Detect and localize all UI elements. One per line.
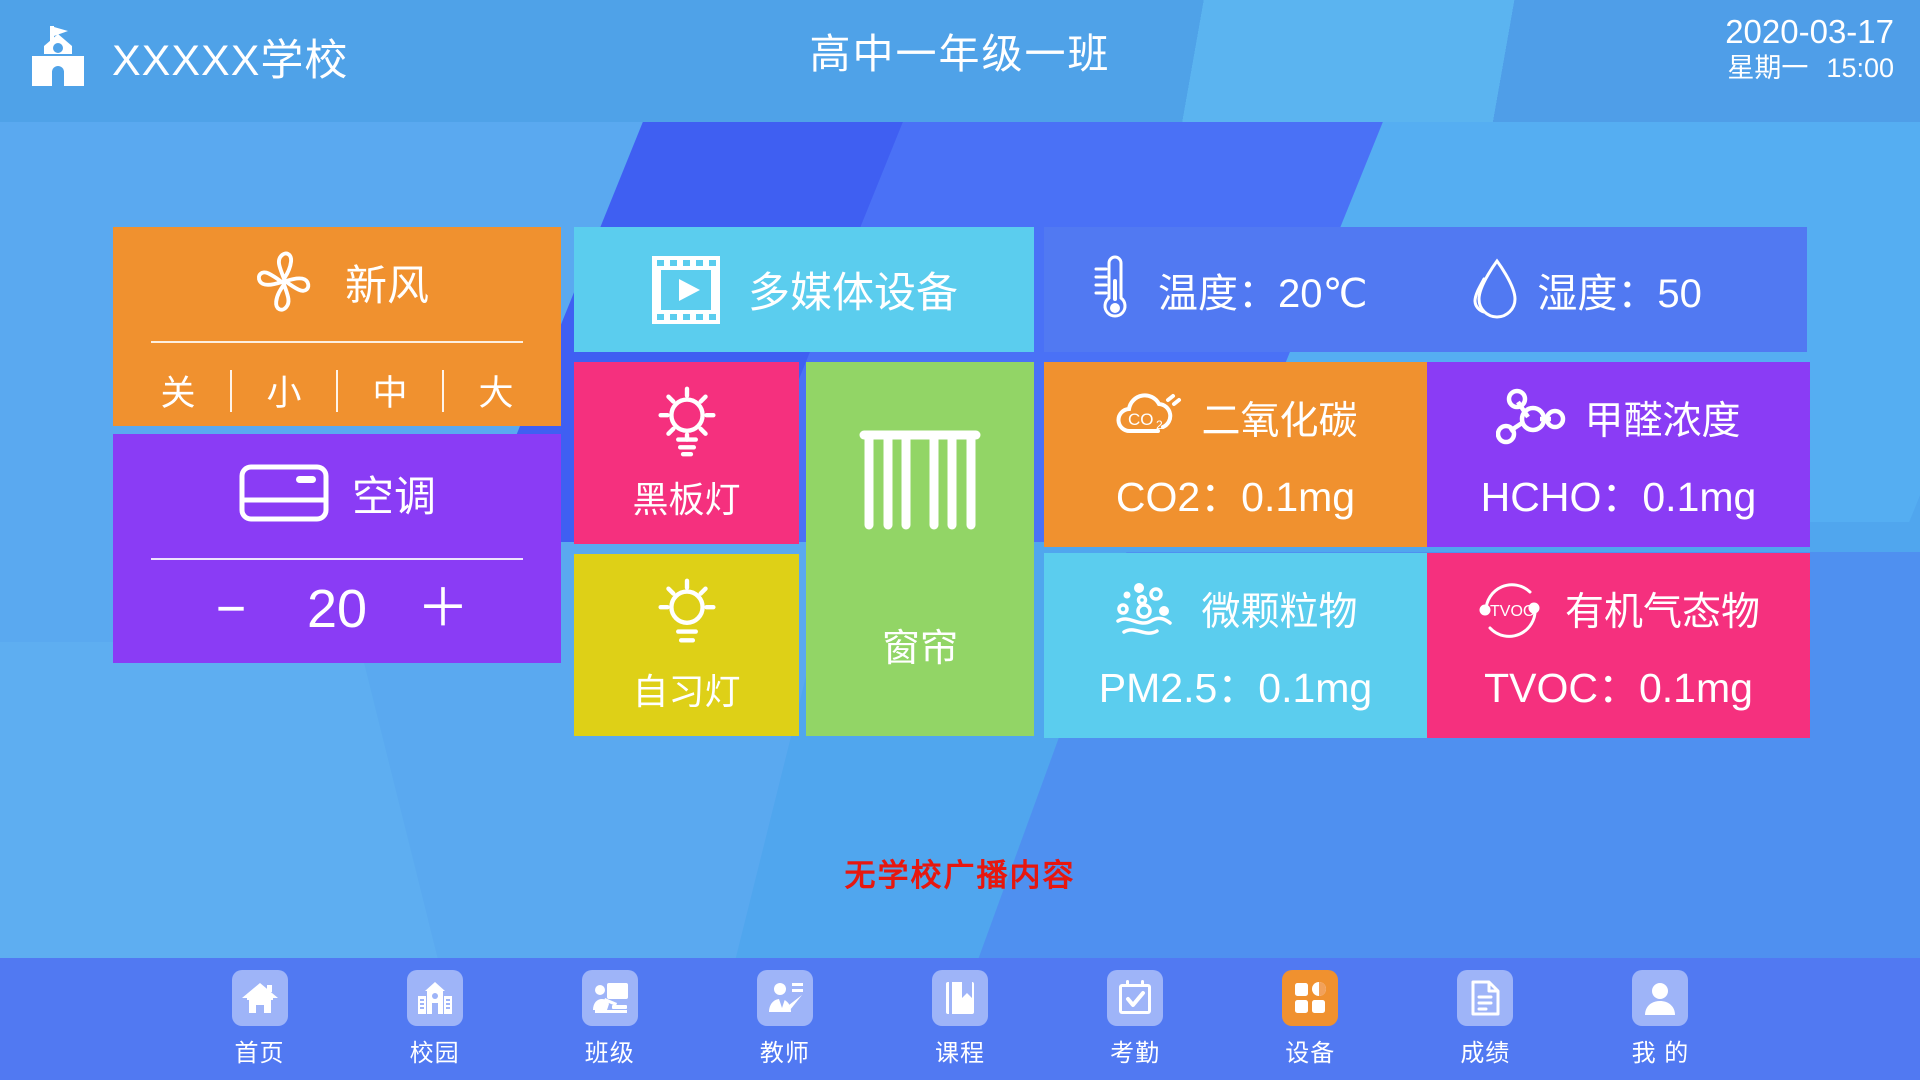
teacher-icon [757, 970, 813, 1026]
nav-label-teacher: 教师 [760, 1033, 810, 1068]
user-icon [1632, 970, 1688, 1026]
fresh-air-option-off[interactable]: 关 [140, 365, 216, 416]
nav-item-campus[interactable]: 校园 [347, 958, 522, 1068]
study-light-title: 自习灯 [632, 663, 740, 715]
divider [336, 370, 338, 412]
particles-icon [1113, 578, 1185, 640]
divider [442, 370, 444, 412]
study-light-panel[interactable]: 自习灯 [574, 554, 799, 736]
nav-label-mine: 我 的 [1632, 1033, 1690, 1068]
nav-label-grades: 成绩 [1460, 1033, 1510, 1068]
document-icon [1457, 970, 1513, 1026]
fresh-air-speed-options: 关 小 中 大 [113, 365, 561, 416]
tvoc-sensor-name: 有机气态物 [1565, 581, 1760, 637]
humidity-readout: 湿度：50 [1467, 255, 1702, 325]
film-play-icon [650, 254, 722, 326]
fresh-air-option-mid[interactable]: 中 [352, 365, 428, 416]
co2-cloud-icon: CO 2 [1113, 387, 1185, 449]
curtain-title: 窗帘 [882, 617, 958, 672]
molecule-icon [1496, 387, 1568, 449]
class-title: 高中一年级一班 [0, 20, 1920, 80]
nav-item-grades[interactable]: 成绩 [1398, 958, 1573, 1068]
nav-item-home[interactable]: 首页 [172, 958, 347, 1068]
divider [151, 558, 523, 560]
air-conditioner-title: 空调 [352, 463, 436, 524]
co2-sensor-value: CO2：0.1mg [1116, 463, 1355, 523]
multimedia-device-panel[interactable]: 多媒体设备 [574, 227, 1034, 352]
hcho-sensor-value: HCHO：0.1mg [1481, 463, 1757, 523]
bottom-navigation: 首页 校园 [0, 958, 1920, 1080]
divider [230, 370, 232, 412]
classroom-icon [582, 970, 638, 1026]
co2-sensor-panel[interactable]: CO 2 二氧化碳 CO2：0.1mg [1044, 362, 1427, 547]
smart-classroom-screen: XXXXX学校 高中一年级一班 2020-03-17 星期一15:00 [0, 0, 1920, 1080]
curtain-panel[interactable]: 窗帘 [806, 362, 1034, 736]
divider [151, 341, 523, 343]
air-conditioner-icon [238, 462, 330, 524]
thermometer-icon [1088, 255, 1140, 325]
lightbulb-on-icon [648, 575, 726, 653]
blackboard-light-title: 黑板灯 [632, 471, 740, 523]
fan-icon [245, 243, 323, 321]
current-date: 2020-03-17 [1725, 12, 1894, 52]
fresh-air-title: 新风 [345, 252, 429, 313]
tvoc-sensor-value: TVOC：0.1mg [1484, 654, 1753, 714]
air-conditioner-panel[interactable]: 空调 − 20 ＋ [113, 434, 561, 663]
environment-panel: 温度：20℃ 湿度：50 [1044, 227, 1807, 352]
app-header: XXXXX学校 高中一年级一班 2020-03-17 星期一15:00 [0, 0, 1920, 122]
temperature-value: 20 [291, 578, 383, 640]
home-icon [232, 970, 288, 1026]
nav-label-attendance: 考勤 [1110, 1033, 1160, 1068]
nav-item-teacher[interactable]: 教师 [697, 958, 872, 1068]
fresh-air-panel[interactable]: 新风 关 小 中 大 [113, 227, 561, 426]
temperature-stepper: − 20 ＋ [113, 578, 561, 640]
fresh-air-option-high[interactable]: 大 [458, 365, 534, 416]
svg-text:TVOC: TVOC [1490, 603, 1534, 620]
multimedia-title: 多媒体设备 [748, 259, 958, 320]
curtain-icon [858, 427, 982, 569]
nav-item-course[interactable]: 课程 [872, 958, 1047, 1068]
control-grid: 新风 关 小 中 大 [0, 122, 1920, 958]
nav-item-devices[interactable]: 设备 [1223, 958, 1398, 1068]
blackboard-light-panel[interactable]: 黑板灯 [574, 362, 799, 544]
temperature-readout: 温度：20℃ [1088, 255, 1367, 325]
tvoc-sensor-panel[interactable]: TVOC 有机气态物 TVOC：0.1mg [1427, 553, 1810, 738]
current-time: 15:00 [1826, 53, 1894, 83]
svg-text:CO: CO [1128, 410, 1154, 429]
temperature-increase-button[interactable]: ＋ [413, 583, 473, 635]
nav-label-devices: 设备 [1285, 1033, 1335, 1068]
svg-text:2: 2 [1156, 418, 1163, 432]
pm25-sensor-value: PM2.5：0.1mg [1099, 654, 1372, 714]
broadcast-message: 无学校广播内容 [0, 850, 1920, 895]
campus-icon [407, 970, 463, 1026]
attendance-icon [1107, 970, 1163, 1026]
devices-icon [1282, 970, 1338, 1026]
fresh-air-option-low[interactable]: 小 [246, 365, 322, 416]
pm25-sensor-panel[interactable]: 微颗粒物 PM2.5：0.1mg [1044, 553, 1427, 738]
lightbulb-on-icon [648, 383, 726, 461]
nav-item-class[interactable]: 班级 [522, 958, 697, 1068]
nav-item-mine[interactable]: 我 的 [1573, 958, 1748, 1068]
nav-label-campus: 校园 [410, 1033, 460, 1068]
hcho-sensor-name: 甲醛浓度 [1584, 390, 1740, 446]
nav-label-class: 班级 [585, 1033, 635, 1068]
nav-label-home: 首页 [235, 1033, 285, 1068]
hcho-sensor-panel[interactable]: 甲醛浓度 HCHO：0.1mg [1427, 362, 1810, 547]
current-weekday: 星期一 [1727, 53, 1808, 83]
pm25-sensor-name: 微颗粒物 [1201, 581, 1357, 637]
water-drop-icon [1467, 255, 1519, 325]
header-datetime: 2020-03-17 星期一15:00 [1725, 12, 1894, 85]
nav-item-attendance[interactable]: 考勤 [1048, 958, 1223, 1068]
co2-sensor-name: 二氧化碳 [1201, 390, 1357, 446]
temperature-decrease-button[interactable]: − [201, 583, 261, 635]
book-icon [932, 970, 988, 1026]
tvoc-circle-icon: TVOC [1477, 578, 1549, 640]
humidity-text: 湿度：50 [1537, 261, 1702, 319]
temperature-text: 温度：20℃ [1158, 261, 1367, 319]
nav-label-course: 课程 [935, 1033, 985, 1068]
